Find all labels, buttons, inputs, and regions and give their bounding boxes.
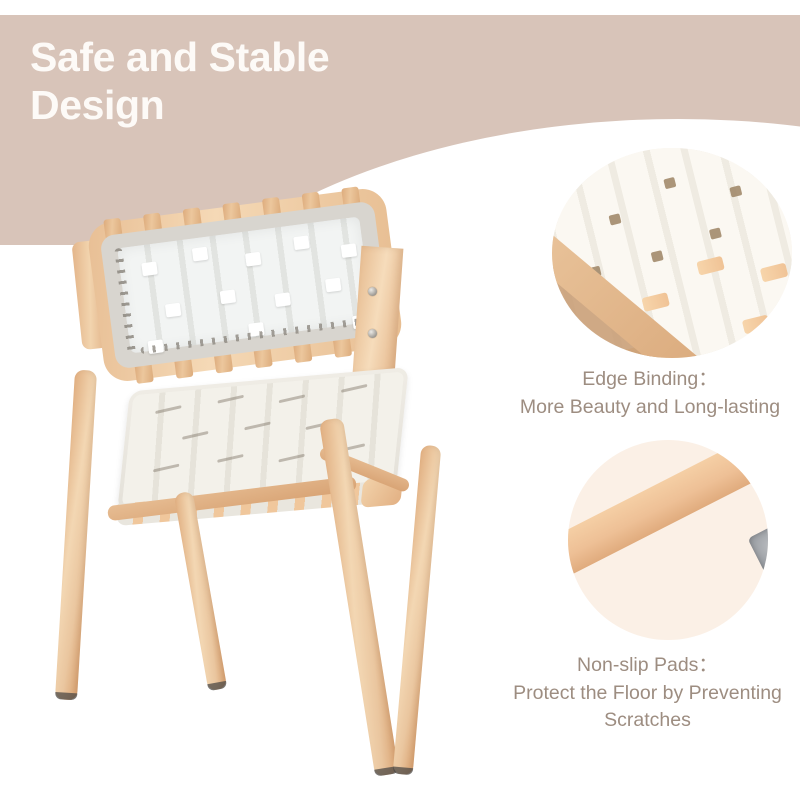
caption-title: Edge Binding： [500,366,800,394]
caption-edge-binding: Edge Binding： More Beauty and Long-lasti… [500,366,800,421]
caption-detail: More Beauty and Long-lasting [500,394,800,422]
non-slip-pad [207,681,227,691]
non-slip-pad [55,692,77,700]
chair-leg-felt-pad-closeup-icon [568,443,757,576]
inset-edge-binding [552,148,792,358]
caption-non-slip-pads: Non-slip Pads： Protect the Floor by Prev… [495,652,800,735]
headline-line-1: Safe and Stable [30,33,460,81]
headline-line-2: Design [30,81,460,129]
caption-title: Non-slip Pads： [495,652,800,680]
chair-illustration [55,195,485,800]
caption-detail-line-2: Scratches [495,707,800,735]
inset-non-slip-pad [568,440,768,640]
felt-pad-icon [748,519,768,582]
chair-leg-front-left [55,370,97,701]
product-feature-graphic: Safe and Stable Design [0,0,800,800]
caption-detail-line-1: Protect the Floor by Preventing [495,680,800,708]
non-slip-pad [393,767,414,776]
page-title: Safe and Stable Design [30,33,460,130]
screw-icon [368,287,377,296]
screw-icon [368,329,377,338]
chair-leg-rear-left [174,491,227,691]
